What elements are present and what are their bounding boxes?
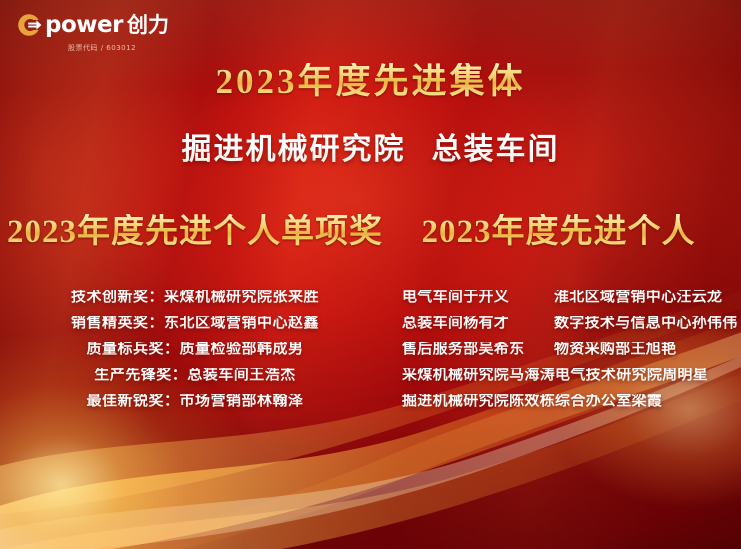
list-item: 生产先锋奖：总装车间王浩杰 [0,362,390,388]
brand-logo: power 创力 股票代码 / 603012 [16,12,169,53]
individual-award-list: 电气车间于开义 淮北区域营销中心汪云龙 总装车间杨有才 数字技术与信息中心孙伟伟… [390,284,741,414]
table-row: 电气车间于开义 淮北区域营销中心汪云龙 [390,284,741,310]
individual-award-5b: 综合办公室梁霞 [555,394,741,409]
special-award-2: 销售精英奖：东北区域营销中心赵鑫 [71,316,319,331]
c-power-logo-icon [16,12,42,38]
individual-award-2b: 数字技术与信息中心孙伟伟 [554,316,741,331]
stock-code-label: 股票代码 / 603012 [68,43,136,53]
collective-winner-2: 总装车间 [432,132,560,167]
heading-individual-special: 2023年度先进个人单项奖 [0,214,390,252]
special-award-4: 生产先锋奖：总装车间王浩杰 [94,368,296,383]
award-lists: 技术创新奖：采煤机械研究院张来胜 销售精英奖：东北区域营销中心赵鑫 质量标兵奖：… [0,284,741,414]
section-headings: 2023年度先进个人单项奖 2023年度先进个人 [0,214,741,252]
special-award-list: 技术创新奖：采煤机械研究院张来胜 销售精英奖：东北区域营销中心赵鑫 质量标兵奖：… [0,284,390,414]
individual-award-4a: 采煤机械研究院马海涛 [398,368,555,383]
brand-wordmark-cn: 创力 [127,15,169,36]
special-award-3: 质量标兵奖：质量检验部韩成男 [86,342,303,357]
page-title-collective: 2023年度先进集体 [0,63,741,102]
individual-award-3a: 售后服务部吴希东 [398,342,554,357]
special-award-1: 技术创新奖：采煤机械研究院张来胜 [71,290,319,305]
individual-award-1a: 电气车间于开义 [398,290,554,305]
individual-award-4b: 电气技术研究院周明星 [555,368,741,383]
collective-winners: 掘进机械研究院总装车间 [0,133,741,168]
table-row: 售后服务部吴希东 物资采购部王旭艳 [390,336,741,362]
poster-canvas: power 创力 股票代码 / 603012 2023年度先进集体 掘进机械研究… [0,0,741,549]
individual-award-2a: 总装车间杨有才 [398,316,554,331]
table-row: 掘进机械研究院陈效栋 综合办公室梁霞 [390,388,741,414]
brand-wordmark: power [45,14,123,37]
brand-logo-row: power 创力 [16,12,169,38]
list-item: 最佳新锐奖：市场营销部林翰泽 [0,388,390,414]
heading-individual: 2023年度先进个人 [390,214,741,252]
individual-award-5a: 掘进机械研究院陈效栋 [398,394,555,409]
table-row: 总装车间杨有才 数字技术与信息中心孙伟伟 [390,310,741,336]
list-item: 质量标兵奖：质量检验部韩成男 [0,336,390,362]
special-award-5: 最佳新锐奖：市场营销部林翰泽 [86,394,303,409]
collective-winner-1: 掘进机械研究院 [182,132,406,167]
table-row: 采煤机械研究院马海涛 电气技术研究院周明星 [390,362,741,388]
list-item: 技术创新奖：采煤机械研究院张来胜 [0,284,390,310]
individual-award-3b: 物资采购部王旭艳 [554,342,741,357]
individual-award-1b: 淮北区域营销中心汪云龙 [554,290,741,305]
list-item: 销售精英奖：东北区域营销中心赵鑫 [0,310,390,336]
